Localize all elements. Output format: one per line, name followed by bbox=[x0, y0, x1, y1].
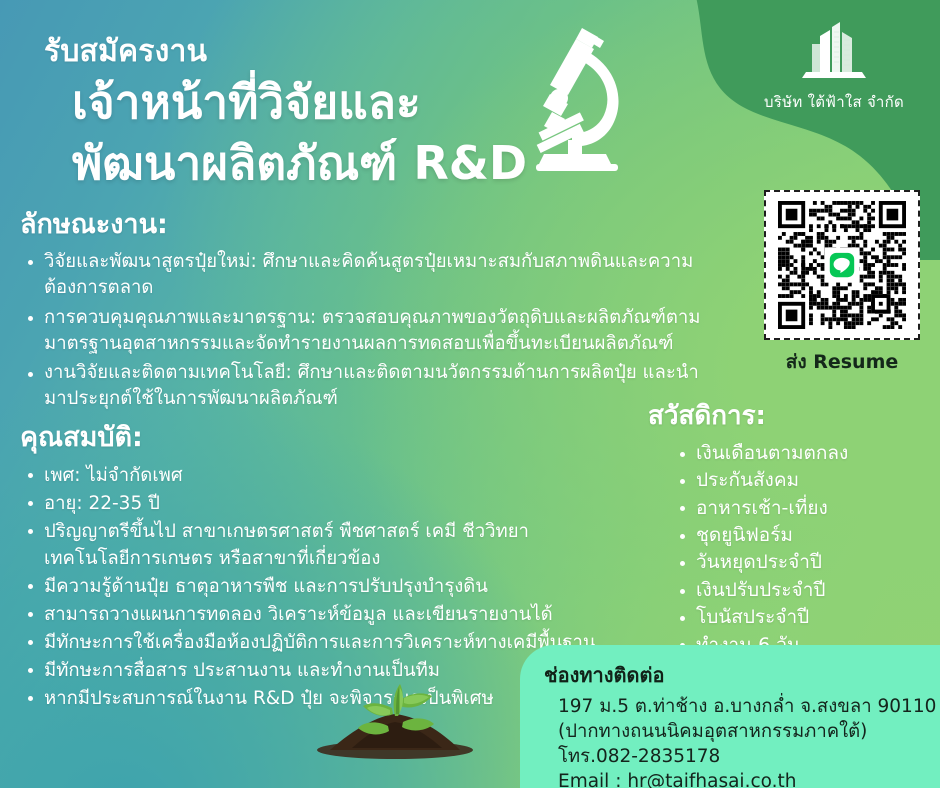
qualification-list-item: ปริญญาตรีขึ้นไป สาขาเกษตรศาสตร์ พืชศาสตร… bbox=[20, 518, 620, 572]
duties-heading: ลักษณะงาน: bbox=[20, 202, 710, 245]
duties-list-item: งานวิจัยและติดตามเทคโนโลยี: ศึกษาและติดต… bbox=[20, 360, 710, 413]
contact-panel: ช่องทางติดต่อ 197 ม.5 ต.ท่าช้าง อ.บางกล่… bbox=[520, 645, 940, 788]
poster-header: รับสมัครงาน เจ้าหน้าที่วิจัยและ พัฒนาผลิ… bbox=[0, 0, 940, 205]
qr-caption: ส่ง Resume bbox=[764, 347, 920, 377]
job-poster: รับสมัครงาน เจ้าหน้าที่วิจัยและ พัฒนาผลิ… bbox=[0, 0, 940, 788]
microscope-icon bbox=[510, 22, 630, 172]
benefits-heading: สวัสดิการ: bbox=[648, 395, 928, 436]
company-name: บริษัท ใต้ฟ้าใส จำกัด bbox=[744, 90, 924, 114]
qr-block: ส่ง Resume bbox=[764, 190, 920, 377]
benefit-list-item: วันหยุดประจำปี bbox=[672, 549, 928, 576]
qualification-list-item: สามารถวางแผนการทดลอง วิเคราะห์ข้อมูล และ… bbox=[20, 601, 620, 628]
benefit-list-item: ประกันสังคม bbox=[672, 467, 928, 494]
company-logo-block: บริษัท ใต้ฟ้าใส จำกัด bbox=[744, 14, 924, 114]
line-app-icon bbox=[827, 250, 857, 280]
contact-line: Email : hr@taifhasai.co.th bbox=[558, 769, 922, 788]
contact-line: 197 ม.5 ต.ท่าช้าง อ.บางกล่ำ จ.สงขลา 9011… bbox=[558, 694, 922, 719]
qualification-list-item: มีทักษะการใช้เครื่องมือห้องปฏิบัติการและ… bbox=[20, 629, 620, 656]
contact-lines: 197 ม.5 ต.ท่าช้าง อ.บางกล่ำ จ.สงขลา 9011… bbox=[544, 694, 922, 788]
qr-code[interactable] bbox=[764, 190, 920, 340]
benefit-list-item: ชุดยูนิฟอร์ม bbox=[672, 522, 928, 549]
benefit-list-item: อาหารเช้า-เที่ยง bbox=[672, 495, 928, 522]
contact-line: โทร.082-2835178 bbox=[558, 744, 922, 769]
duties-list: วิจัยและพัฒนาสูตรปุ๋ยใหม่: ศึกษาและคิดค้… bbox=[20, 249, 710, 413]
kicker-text: รับสมัครงาน bbox=[44, 28, 207, 75]
qualification-list-item: เพศ: ไม่จำกัดเพศ bbox=[20, 462, 620, 489]
qualification-list-item: มีความรู้ด้านปุ๋ย ธาตุอาหารพืช และการปรั… bbox=[20, 573, 620, 600]
contact-line: (ปากทางถนนนิคมอุตสาหกรรมภาคใต้) bbox=[558, 719, 922, 744]
building-icon bbox=[798, 14, 870, 86]
benefits-list: เงินเดือนตามตกลงประกันสังคมอาหารเช้า-เที… bbox=[672, 440, 928, 659]
benefit-list-item: เงินปรับประจำปี bbox=[672, 577, 928, 604]
qualification-list-item: อายุ: 22-35 ปี bbox=[20, 490, 620, 517]
benefits-section: สวัสดิการ: เงินเดือนตามตกลงประกันสังคมอา… bbox=[648, 395, 928, 685]
contact-title: ช่องทางติดต่อ bbox=[544, 659, 922, 691]
benefit-list-item: เงินเดือนตามตกลง bbox=[672, 440, 928, 467]
duties-list-item: วิจัยและพัฒนาสูตรปุ๋ยใหม่: ศึกษาและคิดค้… bbox=[20, 249, 710, 302]
benefit-list-item: โบนัสประจำปี bbox=[672, 604, 928, 631]
seedling-plant-icon bbox=[300, 670, 490, 760]
job-duties-section: ลักษณะงาน: วิจัยและพัฒนาสูตรปุ๋ยใหม่: ศึ… bbox=[20, 202, 710, 416]
qualifications-heading: คุณสมบัติ: bbox=[20, 415, 620, 458]
duties-list-item: การควบคุมคุณภาพและมาตรฐาน: ตรวจสอบคุณภาพ… bbox=[20, 305, 710, 358]
